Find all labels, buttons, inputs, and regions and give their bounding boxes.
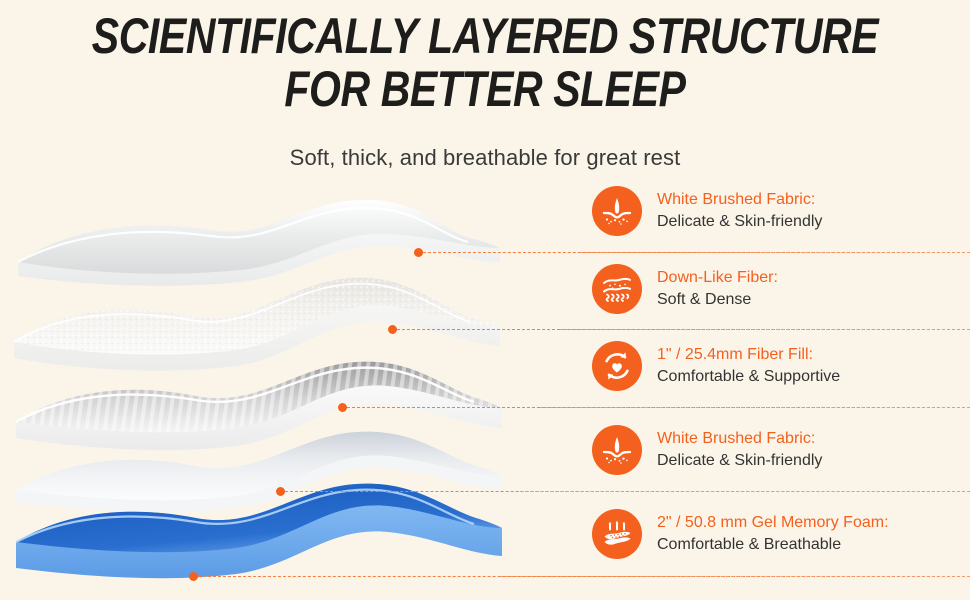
- feature-text-4: White Brushed Fabric: Delicate & Skin-fr…: [657, 429, 822, 472]
- feature-item-4[interactable]: White Brushed Fabric: Delicate & Skin-fr…: [592, 425, 822, 475]
- subtitle: Soft, thick, and breathable for great re…: [0, 145, 970, 171]
- feature-separator-5: [500, 576, 970, 577]
- feature-text-5: 2" / 50.8 mm Gel Memory Foam: Comfortabl…: [657, 513, 889, 556]
- layer-marker-dot-4: [276, 487, 285, 496]
- layer-down-like-fiber: [14, 278, 500, 371]
- feature-title-2: Down-Like Fiber:: [657, 268, 778, 288]
- layer-marker-dot-3: [338, 403, 347, 412]
- feature-desc-5: Comfortable & Breathable: [657, 535, 889, 555]
- feature-title-5: 2" / 50.8 mm Gel Memory Foam:: [657, 513, 889, 533]
- layer-white-brushed-fabric-top: [18, 200, 500, 286]
- feature-desc-4: Delicate & Skin-friendly: [657, 451, 822, 471]
- feature-item-5[interactable]: 2" / 50.8 mm Gel Memory Foam: Comfortabl…: [592, 509, 889, 559]
- feature-text-3: 1" / 25.4mm Fiber Fill: Comfortable & Su…: [657, 345, 840, 388]
- page-title: SCIENTIFICALLY LAYERED STRUCTURE FOR BET…: [0, 12, 970, 114]
- fabric-follicle-icon: [592, 186, 642, 236]
- feature-separator-1: [580, 252, 970, 253]
- feature-separator-2: [560, 329, 970, 330]
- layer-marker-dot-1: [414, 248, 423, 257]
- feature-item-1[interactable]: White Brushed Fabric: Delicate & Skin-fr…: [592, 186, 822, 236]
- feature-title-1: White Brushed Fabric:: [657, 190, 822, 210]
- breathable-foam-icon: [592, 509, 642, 559]
- title-line-2: FOR BETTER SLEEP: [87, 65, 882, 114]
- feature-desc-1: Delicate & Skin-friendly: [657, 212, 822, 232]
- feature-text-1: White Brushed Fabric: Delicate & Skin-fr…: [657, 190, 822, 233]
- refresh-heart-icon: [592, 341, 642, 391]
- feature-title-4: White Brushed Fabric:: [657, 429, 822, 449]
- feature-item-2[interactable]: Down-Like Fiber: Soft & Dense: [592, 264, 778, 314]
- title-line-1: SCIENTIFICALLY LAYERED STRUCTURE: [87, 12, 882, 61]
- feature-desc-2: Soft & Dense: [657, 290, 778, 310]
- layer-marker-dot-2: [388, 325, 397, 334]
- feature-desc-3: Comfortable & Supportive: [657, 367, 840, 387]
- layer-marker-dot-5: [189, 572, 198, 581]
- feature-item-3[interactable]: 1" / 25.4mm Fiber Fill: Comfortable & Su…: [592, 341, 840, 391]
- fabric-follicle-icon: [592, 425, 642, 475]
- infographic-canvas: SCIENTIFICALLY LAYERED STRUCTURE FOR BET…: [0, 0, 970, 600]
- feature-text-2: Down-Like Fiber: Soft & Dense: [657, 268, 778, 311]
- down-fiber-icon: [592, 264, 642, 314]
- feature-separator-4: [520, 491, 970, 492]
- feature-title-3: 1" / 25.4mm Fiber Fill:: [657, 345, 840, 365]
- layer-fiber-fill-ribbed: [16, 362, 502, 451]
- feature-separator-3: [540, 407, 970, 408]
